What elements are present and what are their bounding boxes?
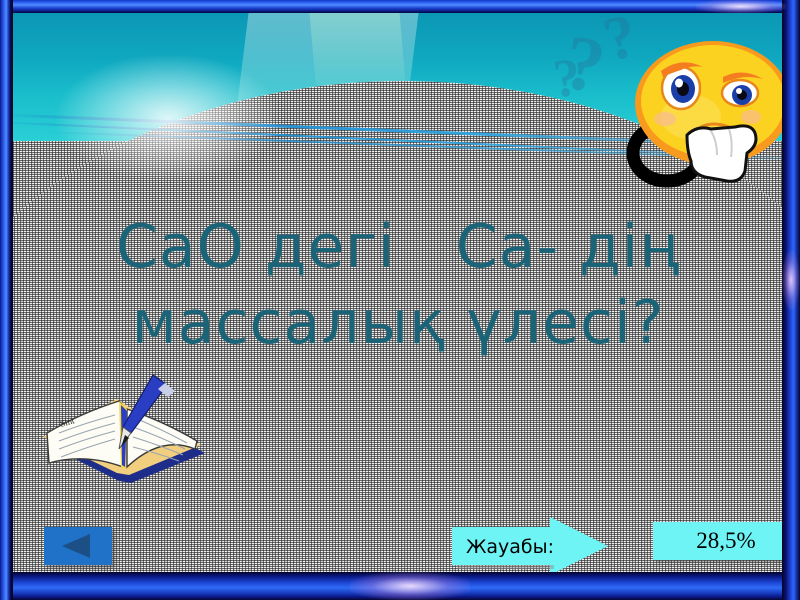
presentation-slide: ? ? ? CaO дегі Ca- дің массалық үлесі? [0, 0, 800, 600]
question-line-1: CaO дегі Ca- дің [68, 209, 728, 285]
question-line-2: массалық үлесі? [68, 285, 728, 361]
header-glow [53, 53, 283, 183]
frame-border-top [0, 0, 800, 13]
answer-arrow: Жауабы: [450, 517, 610, 572]
slide-canvas: ? ? ? CaO дегі Ca- дің массалық үлесі? [13, 13, 782, 572]
answer-label: Жауабы: [450, 528, 570, 566]
back-button[interactable] [44, 527, 112, 565]
frame-glow-bottom [350, 572, 470, 600]
answer-value-box: 28,5% [653, 522, 782, 560]
open-book-with-pen-clipart: Sint [35, 371, 215, 506]
frame-border-left [0, 0, 13, 600]
frame-glow-top [696, 0, 786, 13]
triangle-left-icon [44, 527, 112, 565]
question-text: CaO дегі Ca- дің массалық үлесі? [68, 209, 728, 361]
thinking-face-emoji [625, 31, 782, 191]
frame-glow-right [782, 250, 800, 310]
